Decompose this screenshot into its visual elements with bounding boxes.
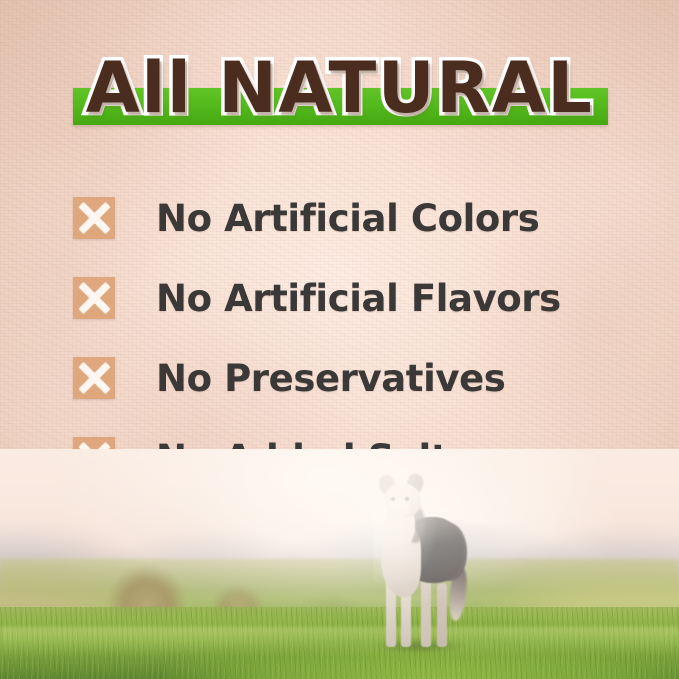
landscape-photo: [0, 449, 679, 679]
headline-banner: All NATURAL: [0, 42, 679, 138]
x-mark-icon: [73, 197, 115, 239]
list-item: No Artificial Colors: [73, 178, 633, 258]
claim-label: No Artificial Colors: [156, 197, 539, 240]
dog-leg: [437, 583, 447, 647]
x-mark-icon: [73, 277, 115, 319]
dog-eye: [391, 497, 395, 501]
dog-muzzle: [389, 499, 409, 517]
claim-label: No Artificial Flavors: [156, 277, 561, 320]
dog-eye: [405, 497, 409, 501]
claim-label: No Preservatives: [156, 357, 505, 400]
all-natural-product-poster: All NATURAL No Artificial Colors No Arti…: [0, 0, 679, 679]
x-mark-icon: [73, 357, 115, 399]
list-item: No Preservatives: [73, 338, 633, 418]
dog-leg: [421, 579, 431, 647]
page-title: All NATURAL: [0, 42, 679, 134]
list-item: No Artificial Flavors: [73, 258, 633, 338]
grass-highlight: [0, 627, 679, 657]
dog-figure: [355, 475, 473, 647]
